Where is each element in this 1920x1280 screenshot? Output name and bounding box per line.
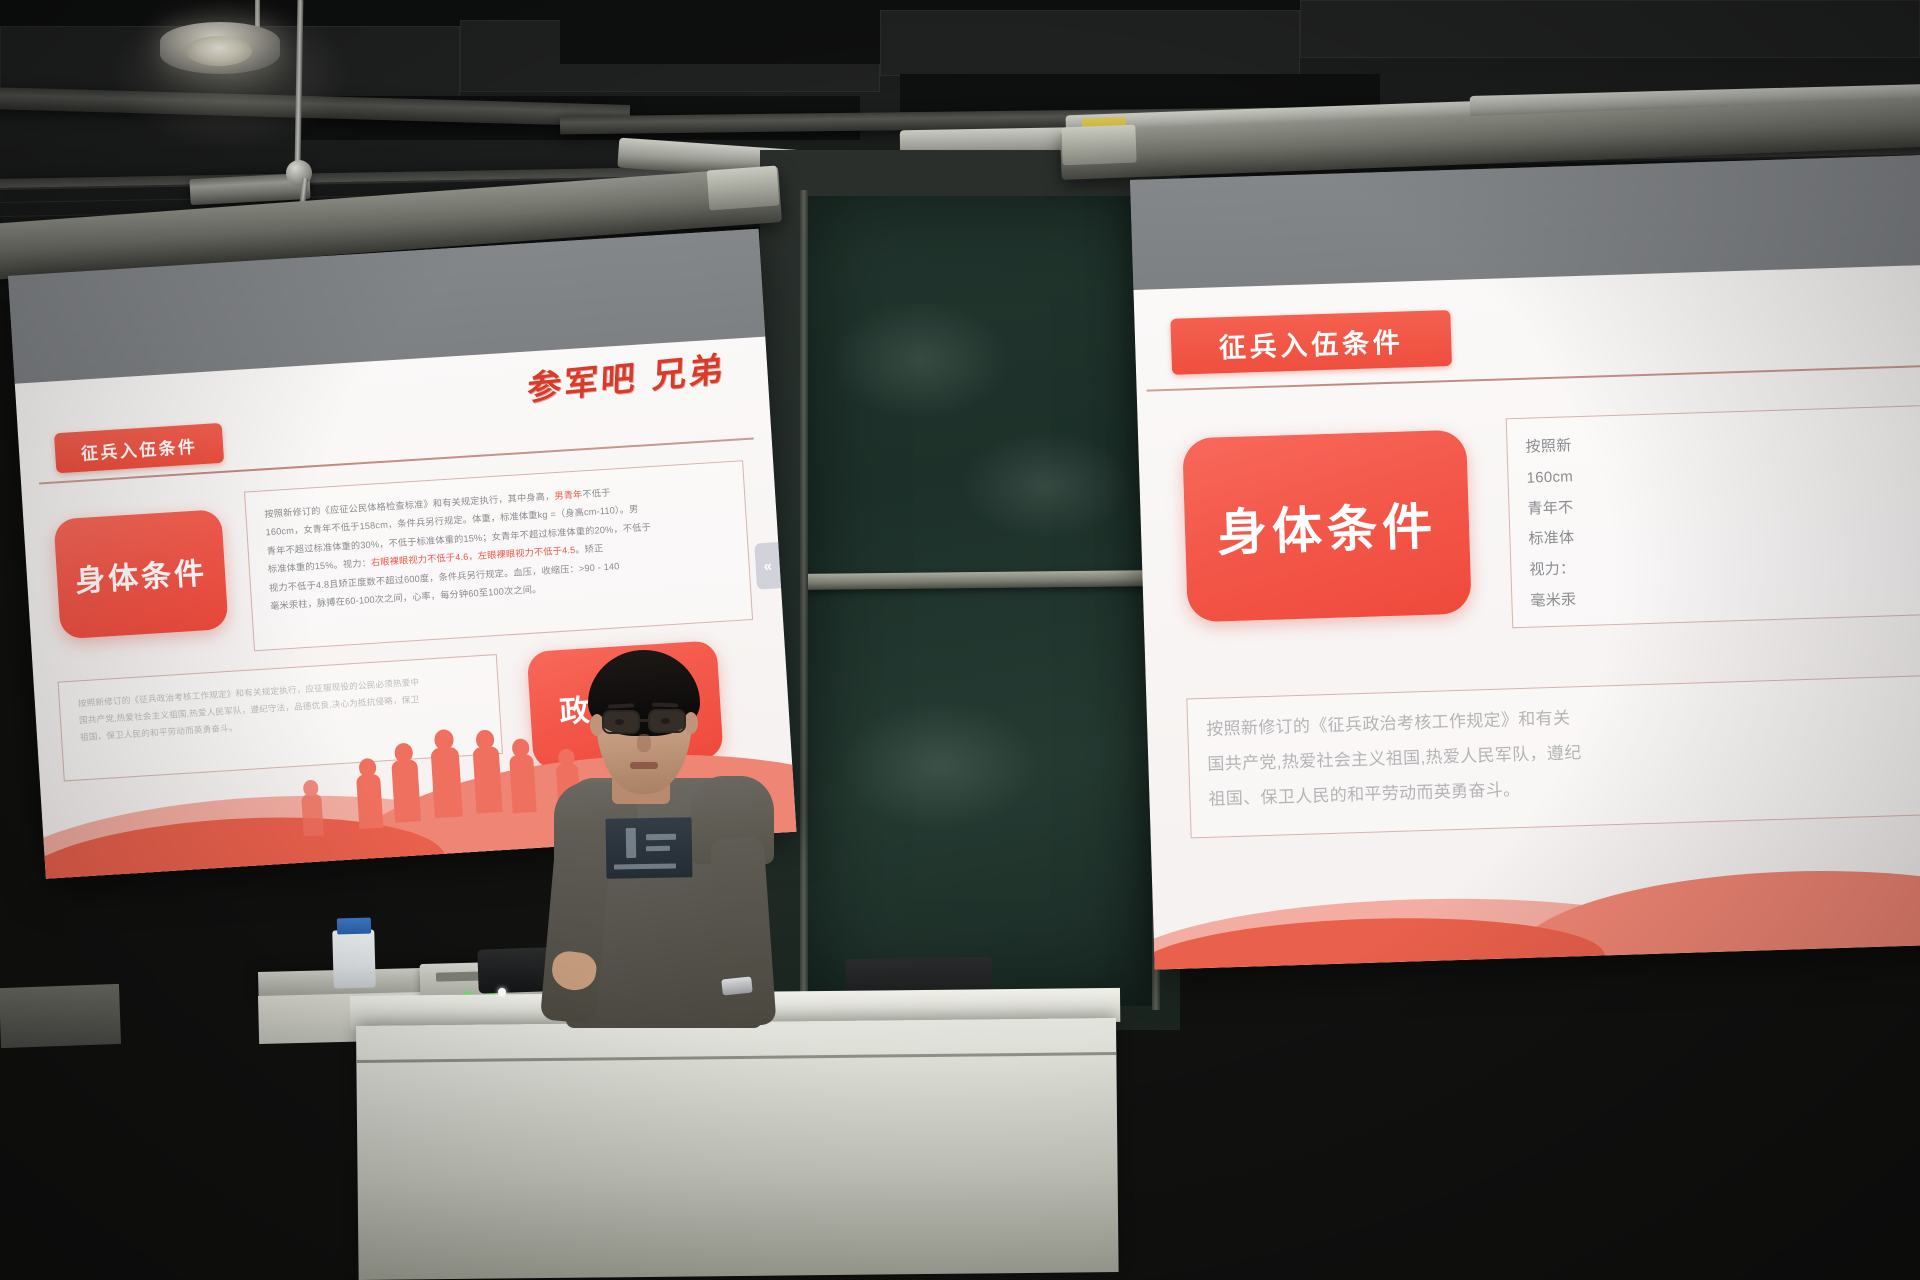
chalk-smudge: [960, 430, 1130, 540]
soldier-silhouette: [391, 759, 421, 823]
chevron-left-icon: «: [763, 557, 772, 574]
badge-label: 征兵入伍条件: [80, 432, 198, 464]
desk-shadow: [0, 984, 121, 1048]
chalkboard-frame: [800, 190, 808, 1010]
boom-joint: [286, 160, 312, 186]
body-line: 毫米汞: [1530, 591, 1576, 609]
body-line: 青年不: [1527, 499, 1573, 517]
soldier-silhouette: [509, 754, 537, 813]
slide-title-badge-right: 征兵入伍条件: [1170, 310, 1452, 375]
chalk-smudge: [830, 300, 1010, 420]
water-bottle[interactable]: [332, 929, 376, 988]
ceiling-recess: [560, 0, 890, 64]
microphone-power-led: [498, 988, 506, 996]
badge-label: 征兵入伍条件: [1218, 320, 1404, 365]
chest-graphic-detail: [626, 828, 637, 858]
lecture-hall-photo: 参军吧 兄弟 征兵入伍条件 身体条件 按照新修订的《应征公民体格检查标准》和有关…: [0, 0, 1920, 1280]
category-label: 身体条件: [74, 548, 209, 600]
body-text-box-1-right: 按照新 160cm 青年不 标准体 视力： 毫米汞: [1506, 404, 1920, 629]
presenter-ear-right: [684, 712, 698, 734]
soldier-silhouette: [473, 746, 503, 814]
body-text-box-2-right: 按照新修订的《征兵政治考核工作规定》和有关 国共产党,热爱社会主义祖国,热爱人民…: [1186, 674, 1920, 839]
body-line: 不低于: [582, 488, 611, 500]
screen-housing-cap: [1061, 125, 1136, 166]
presenter-mouth: [630, 762, 658, 769]
projection-screen-right[interactable]: 征兵入伍条件 身体条件 按照新 160cm 青年不 标准体 视力： 毫米汞 按照…: [1130, 154, 1920, 969]
soldier-silhouette: [430, 747, 462, 819]
presenter-nose: [637, 734, 651, 752]
category-box-body-condition-left: 身体条件: [53, 509, 228, 639]
slide-right: 征兵入伍条件 身体条件 按照新 160cm 青年不 标准体 视力： 毫米汞 按照…: [1133, 264, 1920, 969]
body-line: 国共产党,热爱社会主义祖国,热爱人民军队，遵纪: [1207, 743, 1582, 774]
category-label: 身体条件: [1216, 487, 1438, 566]
slide-prev-nav-button[interactable]: «: [754, 542, 781, 589]
presenter-eyeglasses-bridge: [640, 719, 650, 722]
body-line: 。矫正: [575, 543, 604, 555]
body-line: 视力：: [1529, 560, 1575, 578]
presenter-eye-right: [661, 718, 670, 724]
brush-title-text: 参军吧 兄弟: [526, 342, 726, 411]
slide-footer-graphic-right: [1151, 834, 1920, 969]
presenter-eyebrow-right: [652, 703, 678, 708]
presenter-eye-left: [615, 719, 624, 725]
ceiling-panel: [880, 10, 1300, 76]
chest-graphic-detail: [646, 846, 670, 851]
body-line: 标准体重的15%。视力：: [268, 558, 372, 574]
soldier-silhouette: [356, 774, 383, 829]
body-line-highlight: 男青年: [554, 489, 583, 501]
chest-graphic-detail: [646, 834, 676, 841]
bottle-cap[interactable]: [337, 918, 371, 935]
body-line: 按照新: [1525, 437, 1571, 455]
soldier-silhouette: [301, 793, 324, 836]
body-line: 祖国、保卫人民的和平劳动而英勇奋斗。: [1208, 780, 1521, 809]
category-box-body-condition-right: 身体条件: [1182, 430, 1472, 623]
ceiling-panel: [1300, 0, 1920, 58]
presenter-wristwatch: [721, 976, 753, 995]
body-line: 160cm: [1526, 468, 1573, 486]
body-line: 标准体: [1528, 529, 1574, 547]
slide-title-badge-left: 征兵入伍条件: [54, 423, 224, 473]
chalk-smudge: [840, 700, 1040, 830]
body-line: 按照新修订的《征兵政治考核工作规定》和有关: [1206, 708, 1571, 738]
body-text-box-1-left: 按照新修订的《应征公民体格检查标准》和有关规定执行，其中身高，男青年不低于 16…: [244, 460, 753, 651]
screen-housing-cap: [707, 165, 780, 210]
downlight-lens: [186, 36, 252, 66]
